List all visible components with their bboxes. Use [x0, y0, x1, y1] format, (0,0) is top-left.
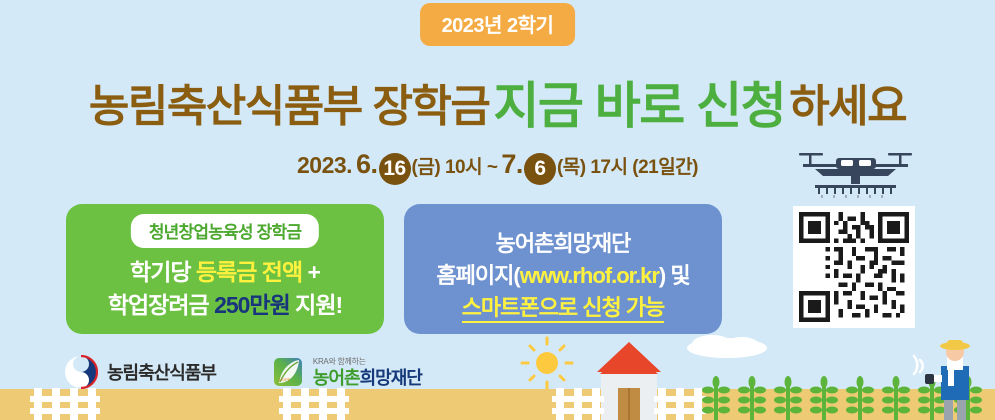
scholarship-card-body: 학기당 등록금 전액 + 학업장려금 250만원 지원!: [66, 256, 384, 322]
date-day-2: 6: [524, 153, 556, 185]
svg-text:HOPE: HOPE: [279, 377, 291, 382]
website-url[interactable]: www.rhof.or.kr: [520, 263, 659, 288]
semester-badge: 2023년 2학기: [420, 3, 576, 46]
date-weekday-2: (목) 17시 (21일간): [557, 157, 698, 178]
logo-row: 농림축산식품부 HOPE KRA와 함께하는 농어촌희망재단: [64, 352, 422, 392]
application-channel-body: 농어촌희망재단 홈페이지(www.rhof.or.kr) 및 스마트폰으로 신청…: [404, 228, 722, 324]
logo-rhof-tagline: KRA와 함께하는: [313, 358, 422, 366]
benefit-line-2-highlight: 250만원: [214, 292, 290, 318]
logo-mafra: 농림축산식품부: [64, 355, 216, 389]
agriculture-drone-icon: [793, 142, 918, 198]
scholarship-card-title: 청년창업농육성 장학금: [131, 214, 319, 248]
cloud-icon: [687, 335, 767, 358]
scholarship-benefit-card: 청년창업농육성 장학금 학기당 등록금 전액 + 학업장려금 250만원 지원!: [66, 204, 384, 334]
scholarship-promo-banner: 2023년 2학기 농림축산식품부 장학금지금 바로 신청하세요 2023. 6…: [0, 0, 995, 420]
benefit-line-1-highlight: 등록금 전액: [196, 259, 302, 285]
headline-part-2: 지금 바로 신청: [489, 78, 789, 134]
headline-part-3: 하세요: [789, 82, 906, 131]
logo-rhof-texts: KRA와 함께하는 농어촌희망재단: [313, 358, 422, 387]
channel-line-3: 스마트폰으로 신청 가능: [404, 292, 722, 324]
headline-part-1: 농림축산식품부 장학금: [89, 82, 490, 131]
date-year: 2023.: [297, 152, 352, 178]
wheat-crop-icon: [702, 376, 982, 420]
benefit-line-2: 학업장려금 250만원 지원!: [66, 289, 384, 322]
benefit-line-1-c: +: [302, 259, 320, 285]
taegeuk-icon: [64, 355, 98, 389]
application-channel-card: 농어촌희망재단 홈페이지(www.rhof.or.kr) 및 스마트폰으로 신청…: [404, 204, 722, 334]
channel-line-2: 홈페이지(www.rhof.or.kr) 및: [404, 260, 722, 292]
channel-line-1: 농어촌희망재단: [404, 228, 722, 260]
date-weekday-1: (금) 10시 ~: [412, 157, 498, 178]
benefit-line-1-a: 학기당: [130, 259, 196, 285]
channel-line-2-c: ) 및: [659, 263, 690, 288]
date-day-1: 16: [379, 153, 411, 185]
date-month-2: 7.: [501, 149, 523, 179]
qr-code-icon[interactable]: [793, 206, 915, 328]
channel-line-2-a: 홈페이지(: [436, 263, 519, 288]
sun-icon: [522, 338, 572, 388]
benefit-line-2-c: 지원!: [290, 292, 342, 318]
leaf-icon: HOPE: [272, 356, 304, 388]
logo-rhof: HOPE KRA와 함께하는 농어촌희망재단: [272, 356, 422, 388]
benefit-line-2-a: 학업장려금: [108, 292, 214, 318]
house-icon: [597, 342, 661, 420]
logo-mafra-label: 농림축산식품부: [107, 359, 216, 385]
date-month-1: 6.: [356, 149, 378, 179]
logo-rhof-label-b: 희망재단: [360, 368, 422, 388]
page-title: 농림축산식품부 장학금지금 바로 신청하세요: [0, 66, 995, 138]
logo-rhof-label-a: 농어촌: [313, 368, 360, 388]
benefit-line-1: 학기당 등록금 전액 +: [66, 256, 384, 289]
channel-line-3-highlight: 스마트폰으로 신청 가능: [462, 295, 665, 323]
logo-rhof-label: 농어촌희망재단: [313, 369, 422, 387]
